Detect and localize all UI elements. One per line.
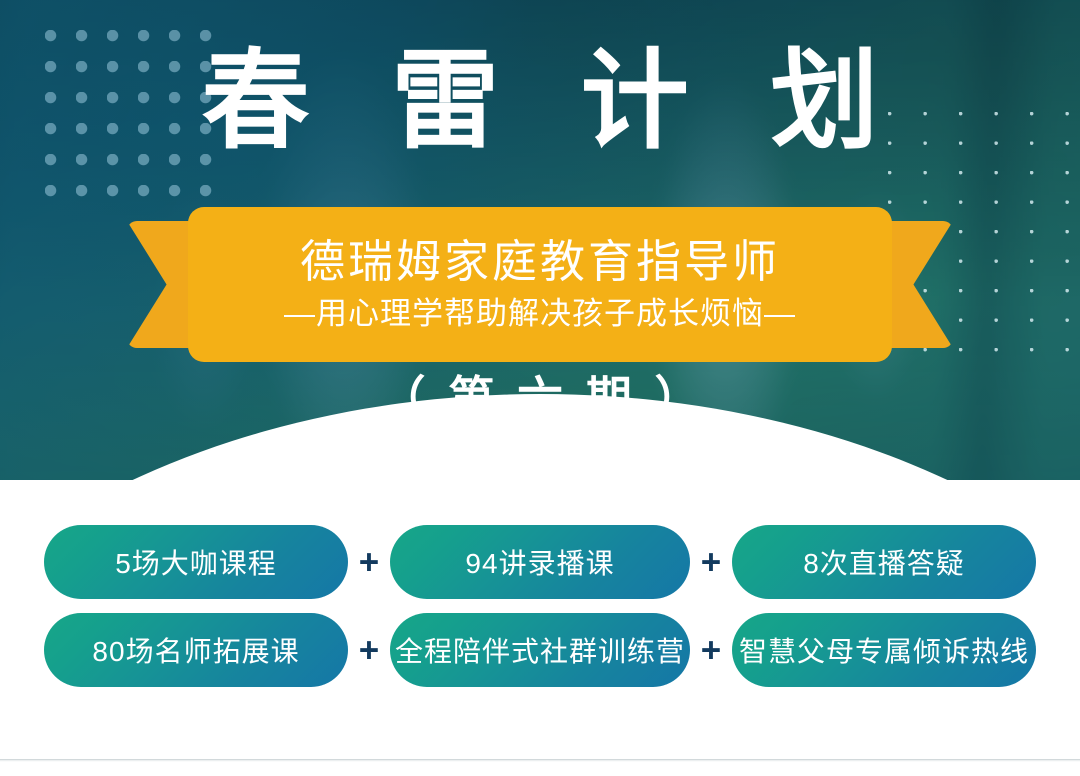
feature-pill-expansion-courses[interactable]: 80场名师拓展课 <box>44 613 348 687</box>
bottom-divider-line <box>0 759 1080 762</box>
feature-pill-row-1: 5场大咖课程 + 94讲录播课 + 8次直播答疑 <box>0 525 1080 599</box>
feature-pill-recorded-lessons[interactable]: 94讲录播课 <box>390 525 690 599</box>
plus-separator-icon: + <box>690 545 732 580</box>
ribbon-body: 德瑞姆家庭教育指导师 —用心理学帮助解决孩子成长烦恼— <box>188 207 892 362</box>
feature-pill-community-camp[interactable]: 全程陪伴式社群训练营 <box>390 613 690 687</box>
plus-separator-icon: + <box>348 545 390 580</box>
feature-pill-live-qa[interactable]: 8次直播答疑 <box>732 525 1036 599</box>
ribbon-secondary-text: —用心理学帮助解决孩子成长烦恼— <box>284 294 796 334</box>
ribbon-primary-text: 德瑞姆家庭教育指导师 <box>300 235 780 288</box>
feature-pill-lecture-count[interactable]: 5场大咖课程 <box>44 525 348 599</box>
feature-pill-row-2: 80场名师拓展课 + 全程陪伴式社群训练营 + 智慧父母专属倾诉热线 <box>0 613 1080 687</box>
page-title: 春 雷 计 划 <box>0 38 1080 165</box>
feature-pill-parent-hotline[interactable]: 智慧父母专属倾诉热线 <box>732 613 1036 687</box>
plus-separator-icon: + <box>348 633 390 668</box>
feature-pill-section: 5场大咖课程 + 94讲录播课 + 8次直播答疑 80场名师拓展课 + 全程陪伴… <box>0 525 1080 687</box>
ribbon-banner: 德瑞姆家庭教育指导师 —用心理学帮助解决孩子成长烦恼— <box>128 207 952 362</box>
poster-canvas: 春 雷 计 划 德瑞姆家庭教育指导师 —用心理学帮助解决孩子成长烦恼— （ 第 … <box>0 0 1080 776</box>
hero-banner: 春 雷 计 划 德瑞姆家庭教育指导师 —用心理学帮助解决孩子成长烦恼— （ 第 … <box>0 0 1080 480</box>
plus-separator-icon: + <box>690 633 732 668</box>
